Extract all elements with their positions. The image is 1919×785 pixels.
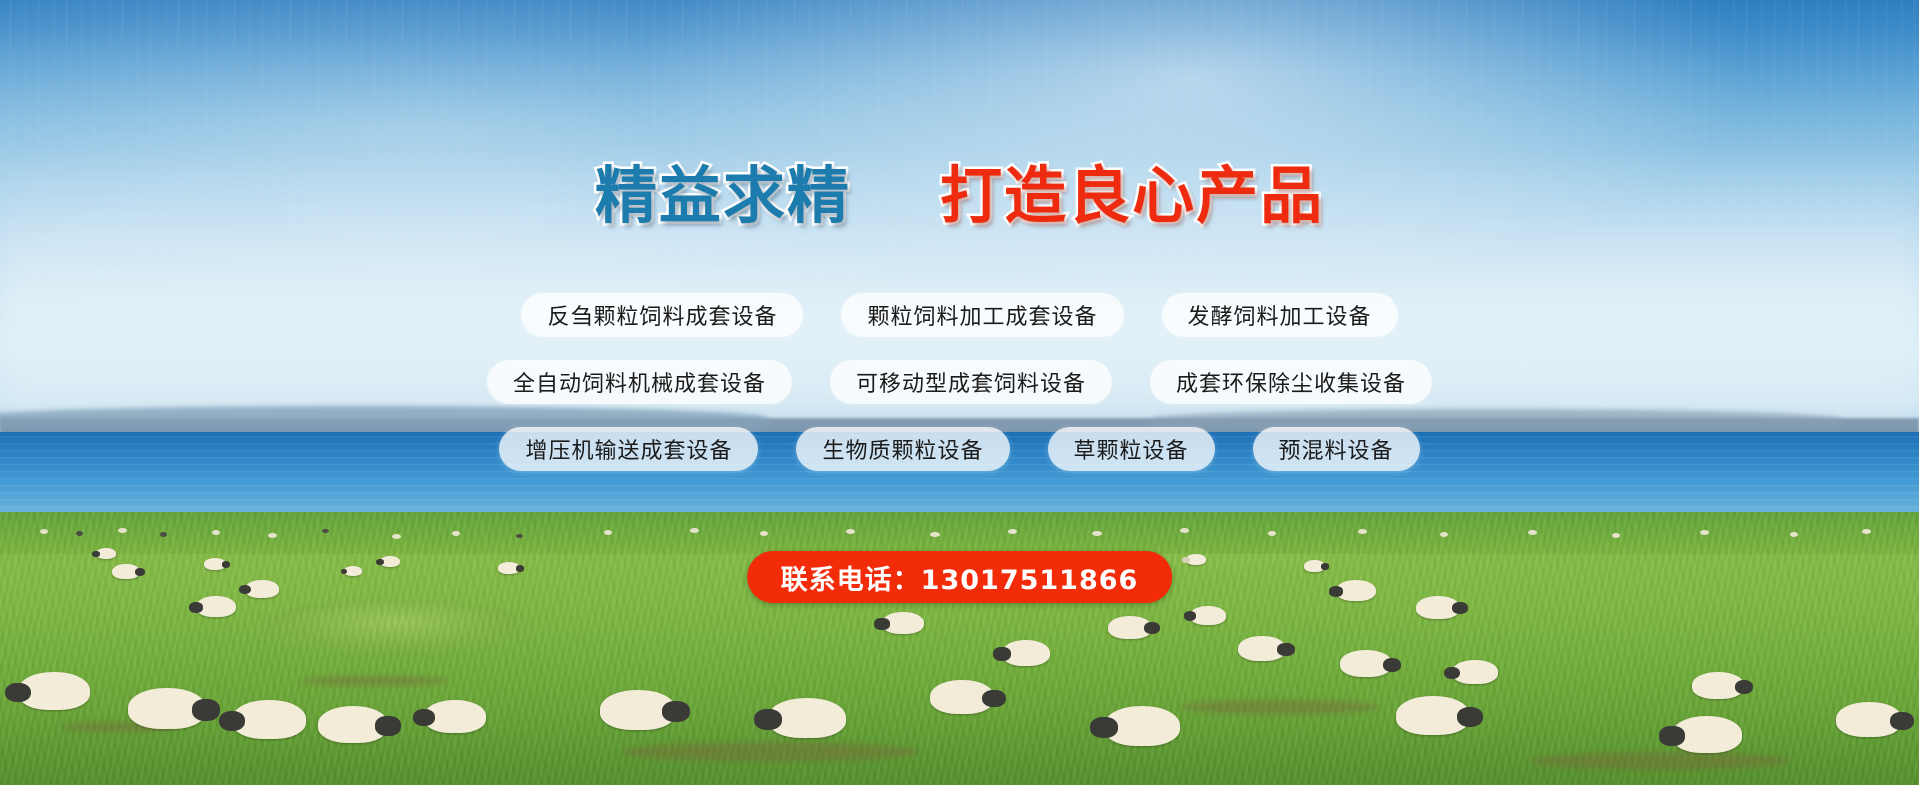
pill-ruminant-pellet-feed-complete-equipment[interactable]: 反刍颗粒饲料成套设备 bbox=[521, 293, 803, 337]
distant-sheep bbox=[1612, 533, 1620, 538]
sheep bbox=[196, 596, 236, 617]
sheep bbox=[1002, 640, 1050, 666]
sheep bbox=[96, 548, 116, 559]
distant-sheep bbox=[1092, 531, 1102, 536]
pill-fermented-feed-processing-equipment[interactable]: 发酵饲料加工设备 bbox=[1162, 293, 1398, 337]
pill-row-1: 反刍颗粒饲料成套设备 颗粒饲料加工成套设备 发酵饲料加工设备 bbox=[0, 293, 1919, 337]
distant-sheep bbox=[1268, 531, 1276, 536]
distant-sheep bbox=[1790, 532, 1798, 537]
headline-red-text: 打造良心产品 bbox=[940, 165, 1324, 227]
distant-sheep bbox=[1862, 529, 1871, 534]
dirt-patch bbox=[1530, 752, 1790, 770]
pill-biomass-pellet-equipment[interactable]: 生物质颗粒设备 bbox=[796, 427, 1009, 471]
sheep bbox=[1452, 660, 1498, 684]
headline-blue-text: 精益求精 bbox=[595, 165, 851, 227]
sheep bbox=[768, 698, 846, 738]
distant-sheep bbox=[846, 529, 855, 534]
pill-complete-environmental-dust-collection-equipment[interactable]: 成套环保除尘收集设备 bbox=[1150, 360, 1432, 404]
sheep bbox=[1104, 706, 1180, 746]
sheep bbox=[112, 564, 140, 579]
sheep bbox=[1190, 606, 1226, 625]
headline: 精益求精 打造良心产品 bbox=[0, 165, 1919, 227]
sheep bbox=[18, 672, 90, 710]
sheep bbox=[318, 706, 388, 743]
distant-sheep bbox=[1008, 529, 1017, 534]
sheep bbox=[232, 700, 306, 739]
pill-booster-conveying-complete-equipment[interactable]: 增压机输送成套设备 bbox=[499, 427, 758, 471]
distant-sheep bbox=[930, 532, 940, 537]
distant-sheep bbox=[392, 534, 401, 539]
dirt-patch bbox=[300, 676, 450, 686]
pill-mobile-type-complete-feed-equipment[interactable]: 可移动型成套饲料设备 bbox=[830, 360, 1112, 404]
distant-sheep bbox=[118, 528, 127, 533]
sheep bbox=[930, 680, 994, 714]
distant-sheep bbox=[690, 528, 699, 533]
pill-row-3: 增压机输送成套设备 生物质颗粒设备 草颗粒设备 预混料设备 bbox=[0, 427, 1919, 471]
sheep bbox=[1692, 672, 1744, 699]
product-category-pills: 反刍颗粒饲料成套设备 颗粒饲料加工成套设备 发酵饲料加工设备 全自动饲料机械成套… bbox=[0, 293, 1919, 494]
sheep bbox=[1836, 702, 1902, 737]
sheep bbox=[1304, 560, 1325, 572]
distant-sheep bbox=[268, 533, 277, 538]
distant-sheep bbox=[322, 529, 329, 533]
pill-premix-feed-equipment[interactable]: 预混料设备 bbox=[1253, 427, 1420, 471]
distant-sheep bbox=[40, 529, 48, 534]
distant-sheep bbox=[1180, 528, 1189, 533]
distant-sheep bbox=[1440, 532, 1448, 537]
dirt-patch bbox=[1180, 700, 1380, 714]
sheep bbox=[204, 558, 226, 570]
pill-fully-automatic-feed-machinery-complete-equipment[interactable]: 全自动饲料机械成套设备 bbox=[487, 360, 792, 404]
distant-sheep bbox=[160, 532, 167, 537]
pill-pellet-feed-processing-complete-equipment[interactable]: 颗粒饲料加工成套设备 bbox=[841, 293, 1123, 337]
distant-sheep bbox=[760, 531, 768, 536]
sheep bbox=[1396, 696, 1470, 735]
distant-sheep bbox=[516, 534, 523, 538]
sheep bbox=[498, 562, 520, 574]
sheep bbox=[380, 556, 400, 567]
sheep bbox=[1672, 716, 1742, 753]
sheep bbox=[1108, 616, 1152, 639]
sheep bbox=[1238, 636, 1286, 661]
sheep bbox=[1340, 650, 1392, 677]
distant-sheep bbox=[212, 530, 220, 535]
distant-sheep bbox=[604, 530, 612, 535]
distant-sheep bbox=[1528, 530, 1537, 535]
distant-sheep bbox=[1358, 529, 1367, 534]
dirt-patch bbox=[620, 742, 920, 762]
distant-sheep bbox=[452, 531, 460, 536]
pill-row-2: 全自动饲料机械成套设备 可移动型成套饲料设备 成套环保除尘收集设备 bbox=[0, 360, 1919, 404]
contact-phone-badge[interactable]: 联系电话：13017511866 bbox=[747, 551, 1173, 603]
sheep bbox=[600, 690, 676, 730]
distant-sheep bbox=[1700, 530, 1709, 535]
sheep bbox=[882, 612, 924, 634]
hero-banner: 精益求精 打造良心产品 反刍颗粒饲料成套设备 颗粒饲料加工成套设备 发酵饲料加工… bbox=[0, 0, 1919, 785]
sheep bbox=[344, 566, 362, 576]
pill-grass-pellet-equipment[interactable]: 草颗粒设备 bbox=[1048, 427, 1215, 471]
sheep bbox=[245, 580, 279, 598]
sheep bbox=[1336, 580, 1376, 601]
sheep bbox=[1416, 596, 1460, 619]
distant-sheep bbox=[76, 531, 83, 536]
sheep bbox=[128, 688, 206, 729]
sheep bbox=[424, 700, 486, 733]
sheep bbox=[1186, 554, 1206, 565]
